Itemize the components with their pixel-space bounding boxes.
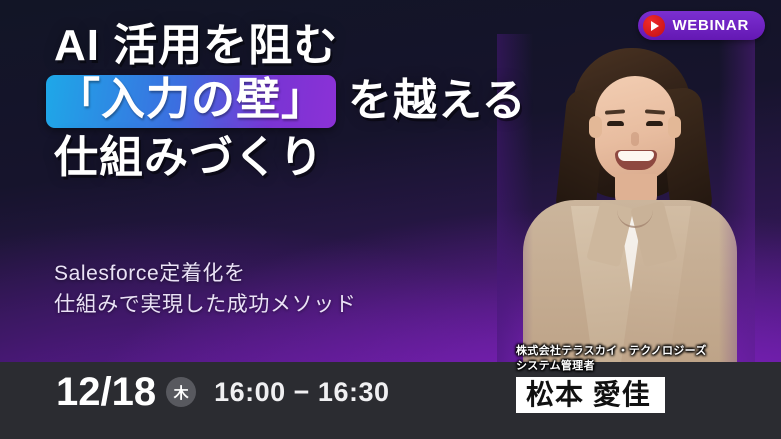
speaker-portrait-illustration [497, 34, 755, 368]
mouth [615, 150, 657, 170]
speaker-role: システム管理者 [516, 359, 707, 374]
play-icon [643, 15, 665, 37]
speaker-name: 松本 愛佳 [526, 379, 651, 410]
subtitle-line-2: 仕組みで実現した成功メソッド [54, 289, 484, 320]
speaker-photo [497, 34, 755, 368]
ear-left [589, 116, 602, 138]
nose [631, 132, 639, 146]
play-triangle [651, 21, 659, 31]
webinar-banner: WEBINAR AI 活用を阻む 「入力の壁」 を越える 仕組みづくり Sale… [0, 0, 781, 439]
headline-line-3: 仕組みづくり [54, 136, 526, 181]
headline-line-2-tail: を越える [348, 79, 527, 124]
speaker-block: 株式会社テラスカイ・テクノロジーズ システム管理者 松本 愛佳 [516, 344, 707, 413]
day-of-week-badge: 木 [166, 377, 196, 407]
headline-line-1: AI 活用を阻む [54, 24, 526, 69]
eye-right [646, 121, 663, 126]
subtitle-block: Salesforce定着化を 仕組みで実現した成功メソッド [54, 258, 484, 320]
headline-highlight-text: 「入力の壁」 [56, 75, 326, 124]
headline-block: AI 活用を阻む 「入力の壁」 を越える 仕組みづくり [46, 24, 526, 181]
headline-line-2: 「入力の壁」 を越える [46, 75, 526, 128]
speaker-name-box: 松本 愛佳 [516, 377, 665, 413]
speaker-company: 株式会社テラスカイ・テクノロジーズ [516, 344, 707, 359]
webinar-badge: WEBINAR [638, 11, 765, 40]
event-date: 12/18 [56, 372, 156, 412]
schedule-block: 12/18 木 16:00 − 16:30 [56, 372, 390, 412]
subtitle-line-1: Salesforce定着化を [54, 258, 484, 289]
headline-highlight-box: 「入力の壁」 [46, 75, 336, 128]
webinar-badge-label: WEBINAR [672, 17, 749, 34]
ear-right [668, 116, 681, 138]
teeth [618, 151, 654, 161]
event-time: 16:00 − 16:30 [214, 377, 389, 408]
eye-left [607, 121, 624, 126]
